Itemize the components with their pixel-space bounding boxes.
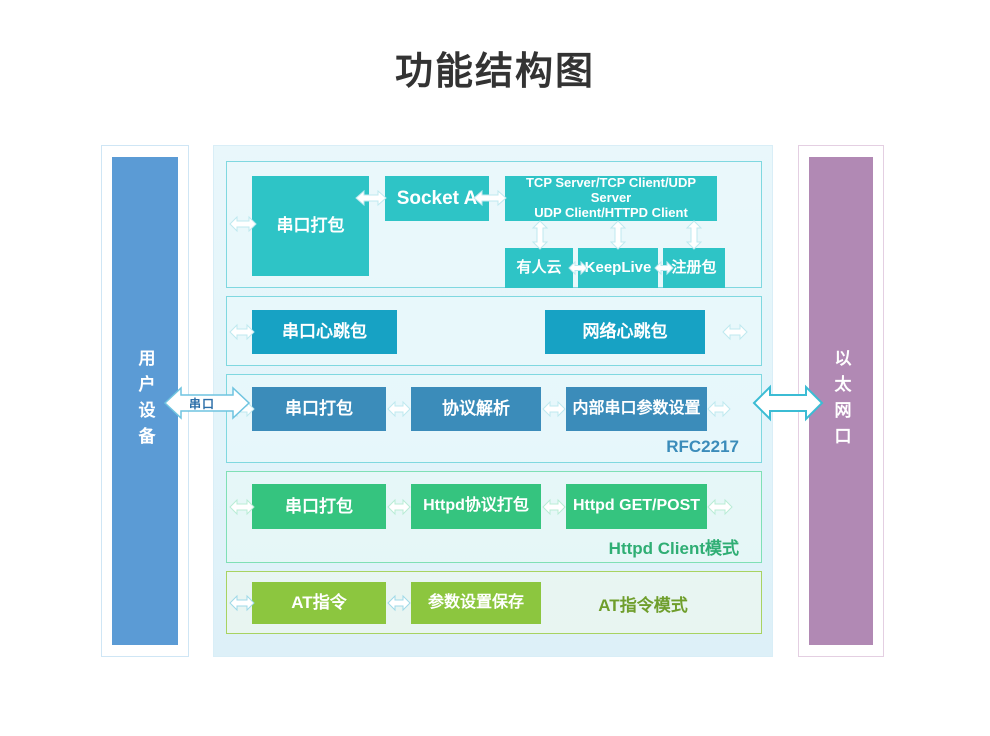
box-serial-pack-rfc[interactable]: 串口打包 <box>252 387 386 431</box>
box-serial-pack-httpd[interactable]: 串口打包 <box>252 484 386 529</box>
box-param-save[interactable]: 参数设置保存 <box>411 582 541 624</box>
page-title: 功能结构图 <box>0 40 990 95</box>
rfc2217-mode-label: RFC2217 <box>227 437 739 457</box>
double-arrow-horizontal-icon <box>568 258 588 278</box>
httpd-client-row: 串口打包 Httpd协议打包 Httpd GET/POST Httpd Clie… <box>226 471 762 563</box>
protocol-line-1: TCP Server/TCP Client/UDP Server <box>509 176 713 206</box>
at-command-row: AT指令 参数设置保存 AT指令模式 <box>226 571 762 634</box>
box-serial-heartbeat[interactable]: 串口心跳包 <box>252 310 397 354</box>
double-arrow-horizontal-icon <box>722 322 748 342</box>
double-arrow-horizontal-icon <box>387 497 411 517</box>
box-protocol-list[interactable]: TCP Server/TCP Client/UDP Server UDP Cli… <box>505 176 717 221</box>
double-arrow-horizontal-icon <box>654 258 674 278</box>
box-keeplive[interactable]: KeepLive <box>578 248 658 288</box>
socket-row: 串口打包 Socket A TCP Server/TCP Client/UDP … <box>226 161 762 288</box>
double-arrow-horizontal-icon <box>387 593 411 613</box>
double-arrow-horizontal-icon <box>473 188 507 208</box>
double-arrow-horizontal-icon <box>542 497 566 517</box>
box-httpd-protocol-pack[interactable]: Httpd协议打包 <box>411 484 541 529</box>
double-arrow-horizontal-icon <box>387 399 411 419</box>
box-httpd-get-post[interactable]: Httpd GET/POST <box>566 484 707 529</box>
httpd-client-mode-label: Httpd Client模式 <box>227 534 739 559</box>
serial-bus-label: 串口 <box>163 386 241 420</box>
double-arrow-horizontal-icon <box>707 497 733 517</box>
double-arrow-horizontal-icon <box>229 593 255 613</box>
double-arrow-horizontal-icon <box>707 399 731 419</box>
heartbeat-row: 串口心跳包 网络心跳包 <box>226 296 762 366</box>
box-protocol-parse[interactable]: 协议解析 <box>411 387 541 431</box>
double-arrow-horizontal-icon <box>229 497 255 517</box>
at-command-mode-label: AT指令模式 <box>563 582 723 624</box>
function-structure-container: 串口打包 Socket A TCP Server/TCP Client/UDP … <box>213 145 773 657</box>
box-serial-pack-socket[interactable]: 串口打包 <box>252 176 369 276</box>
double-arrow-horizontal-icon <box>355 188 387 208</box>
protocol-line-2: UDP Client/HTTPD Client <box>509 206 713 221</box>
ethernet-bus-arrow-icon <box>752 384 824 422</box>
box-network-heartbeat[interactable]: 网络心跳包 <box>545 310 705 354</box>
double-arrow-vertical-icon <box>531 220 549 250</box>
double-arrow-horizontal-icon <box>542 399 566 419</box>
double-arrow-vertical-icon <box>685 220 703 250</box>
double-arrow-horizontal-icon <box>229 322 255 342</box>
double-arrow-vertical-icon <box>609 220 627 250</box>
double-arrow-horizontal-icon <box>229 214 257 234</box>
rfc2217-row: 串口打包 协议解析 内部串口参数设置 RFC2217 <box>226 374 762 463</box>
box-youren-cloud[interactable]: 有人云 <box>505 248 573 288</box>
box-at-command[interactable]: AT指令 <box>252 582 386 624</box>
box-internal-serial-params[interactable]: 内部串口参数设置 <box>566 387 707 431</box>
